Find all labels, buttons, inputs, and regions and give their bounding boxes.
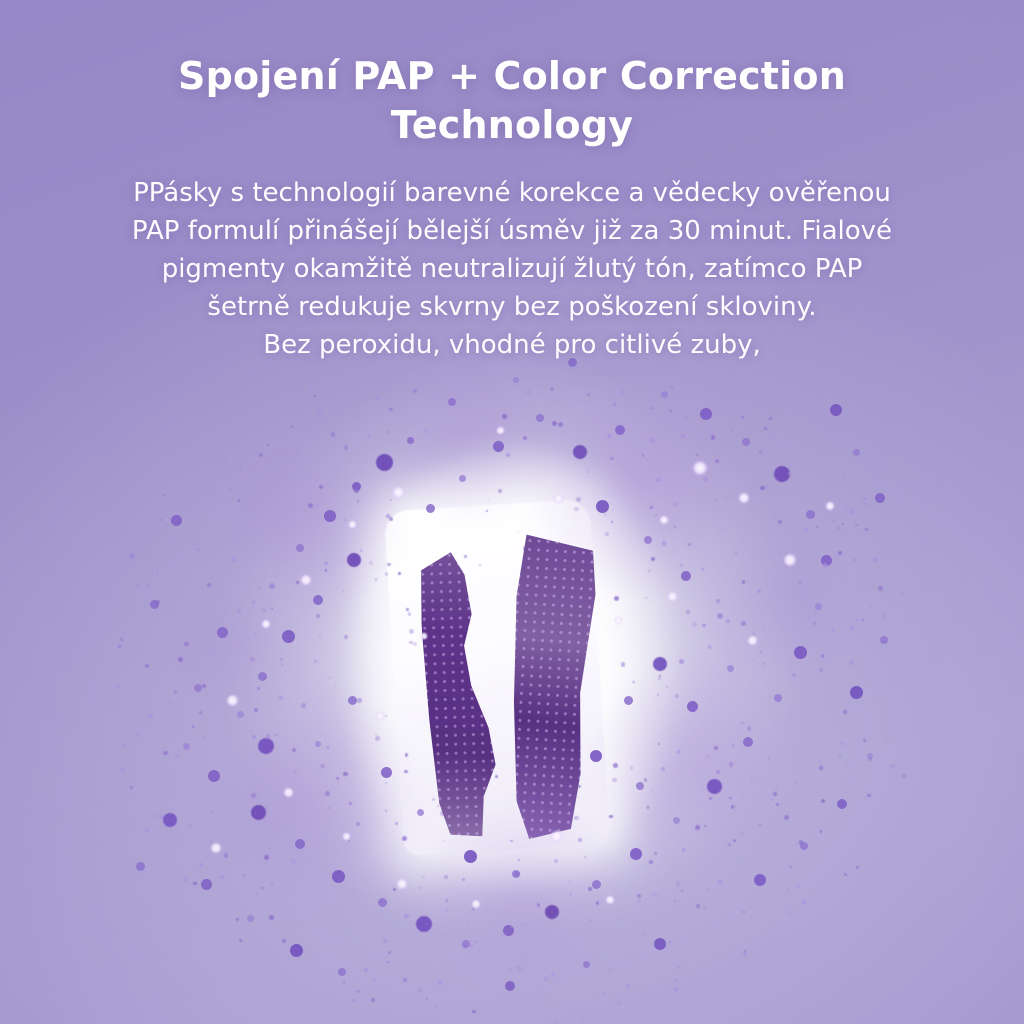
pigment-speck [154, 814, 157, 817]
pigment-speck [902, 774, 906, 778]
pigment-speck [819, 766, 823, 770]
pigment-speck [282, 939, 286, 943]
pigment-speck [850, 626, 854, 630]
pigment-speck [581, 1020, 584, 1023]
poster-canvas: Spojení PAP + Color Correction Technolog… [0, 0, 1024, 1024]
pigment-speck [117, 748, 118, 749]
pigment-speck [820, 830, 823, 833]
pigment-speck [309, 385, 314, 390]
pigment-speck [169, 867, 172, 870]
particle-dot [290, 944, 303, 957]
pigment-speck [824, 695, 826, 697]
pigment-speck [210, 840, 213, 843]
pigment-speck [242, 874, 245, 877]
particle-dot [208, 770, 220, 782]
pigment-speck [847, 765, 849, 767]
pigment-speck [886, 738, 888, 740]
particle-dot [150, 600, 159, 609]
pigment-speck [833, 520, 835, 522]
pigment-speck [651, 1008, 652, 1009]
pigment-speck [236, 918, 239, 921]
particle-dot [163, 813, 177, 827]
particle-dot [247, 915, 254, 922]
pigment-speck [790, 866, 793, 869]
pigment-speck [673, 987, 678, 992]
pigment-speck [858, 756, 860, 758]
particle-dot [194, 684, 202, 692]
pigment-speck [839, 478, 840, 479]
pigment-speck [199, 711, 202, 714]
sparkle-highlight [210, 842, 222, 854]
pigment-speck [838, 551, 842, 555]
particle-dot [853, 449, 860, 456]
pigment-speck [434, 1005, 437, 1008]
pigment-speck [870, 606, 873, 609]
particle-dot [867, 753, 873, 759]
pigment-speck [816, 526, 818, 528]
particle-dot [837, 799, 847, 809]
pigment-speck [163, 494, 165, 496]
pigment-speck [297, 407, 298, 408]
pigment-speck [838, 527, 840, 529]
pigment-speck [823, 563, 828, 568]
pigment-speck [110, 719, 111, 720]
pigment-speck [168, 780, 170, 782]
pigment-speck [163, 751, 168, 756]
pigment-speck [610, 969, 611, 970]
pigment-speck [352, 999, 355, 1002]
pigment-speck [843, 710, 847, 714]
pigment-speck [157, 573, 158, 574]
pigment-speck [120, 638, 123, 641]
pigment-speck [373, 978, 376, 981]
pigment-speck [844, 873, 847, 876]
pigment-speck [669, 941, 671, 943]
particle-dot [183, 743, 190, 750]
pigment-speck [862, 619, 864, 621]
pigment-speck [358, 380, 359, 381]
pigment-speck [864, 498, 866, 500]
pigment-speck [438, 981, 442, 985]
particle-dot [505, 981, 515, 991]
pigment-speck [849, 660, 854, 665]
pigment-speck [314, 395, 316, 397]
particle-dot [806, 510, 815, 519]
pigment-speck [831, 629, 834, 632]
pigment-speck [364, 968, 368, 972]
pigment-speck [853, 559, 855, 561]
pigment-speck [136, 732, 140, 736]
pigment-speck [862, 590, 863, 591]
pigment-speck [332, 387, 336, 391]
pigment-speck [544, 977, 548, 981]
pigment-speck [863, 739, 866, 742]
pigment-speck [271, 883, 274, 886]
pigment-speck [343, 981, 345, 983]
pigment-speck [230, 472, 234, 476]
pigment-speck [821, 799, 825, 803]
particle-dot [171, 515, 182, 526]
pigment-speck [809, 851, 810, 852]
pigment-speck [118, 645, 121, 648]
pigment-speck [626, 984, 630, 988]
pigment-speck [356, 990, 359, 993]
pigment-speck [192, 725, 195, 728]
pigment-speck [371, 998, 375, 1002]
pigment-speck [116, 685, 120, 689]
pigment-speck [839, 755, 841, 757]
page-title: Spojení PAP + Color Correction Technolog… [0, 0, 1024, 151]
pigment-speck [551, 973, 555, 977]
pigment-speck [867, 794, 871, 798]
pigment-speck [799, 840, 803, 844]
pigment-speck [882, 638, 883, 639]
pigment-speck [193, 882, 197, 886]
sparkle-highlight [825, 501, 835, 511]
pigment-speck [788, 472, 791, 475]
pigment-speck [774, 437, 776, 439]
pigment-speck [175, 754, 178, 757]
pigment-speck [220, 875, 225, 880]
pigment-speck [687, 963, 688, 964]
pigment-speck [149, 741, 150, 742]
particle-dot [742, 438, 750, 446]
pigment-speck [199, 863, 203, 867]
pigment-speck [865, 528, 868, 531]
pigment-speck [259, 453, 263, 457]
pigment-speck [203, 736, 206, 739]
pigment-speck [759, 451, 762, 454]
pigment-speck [819, 759, 821, 761]
pigment-speck [238, 499, 240, 501]
pigment-speck [827, 505, 828, 506]
pigment-speck [472, 1010, 475, 1013]
particle-dot [201, 879, 212, 890]
pigment-speck [155, 600, 160, 605]
pigment-speck [749, 939, 750, 940]
pigment-speck [197, 548, 200, 551]
pigment-speck [255, 892, 258, 895]
pigment-speck [843, 476, 845, 478]
pigment-speck [764, 427, 767, 430]
pigment-speck [850, 509, 855, 514]
particle-dot [136, 862, 145, 871]
pigment-speck [855, 524, 857, 526]
text-block: Spojení PAP + Color Correction Technolog… [0, 0, 1024, 365]
pigment-speck [741, 416, 744, 419]
pigment-speck [239, 939, 242, 942]
pigment-speck [267, 444, 269, 446]
pigment-speck [901, 591, 904, 594]
pigment-speck [224, 853, 229, 858]
particle-dot [830, 404, 842, 416]
particle-dot [338, 968, 346, 976]
particle-dot [774, 466, 790, 482]
pigment-speck [878, 586, 883, 591]
pigment-speck [617, 1001, 621, 1005]
pigment-speck [209, 493, 212, 496]
pigment-speck [178, 657, 183, 662]
pigment-speck [291, 425, 294, 428]
pigment-speck [264, 855, 269, 860]
pigment-speck [130, 786, 133, 789]
pigment-speck [440, 980, 442, 982]
pigment-speck [221, 459, 226, 464]
pigment-speck [229, 489, 230, 490]
pigment-speck [883, 614, 887, 618]
pigment-speck [180, 502, 182, 504]
particle-dot [129, 553, 135, 559]
pigment-speck [317, 409, 322, 414]
pigment-speck [873, 558, 877, 562]
pigment-speck [112, 730, 113, 731]
pigment-speck [120, 768, 125, 773]
particle-dot [875, 493, 885, 503]
particle-dot [880, 636, 888, 644]
pigment-speck [796, 884, 800, 888]
pigment-speck [261, 887, 264, 890]
pigment-speck [743, 952, 747, 956]
pigment-speck [137, 584, 140, 587]
pigment-speck [784, 815, 789, 820]
pigment-speck [183, 877, 188, 882]
pigment-speck [174, 691, 177, 694]
pigment-speck [387, 961, 389, 963]
pigment-speck [862, 502, 866, 506]
pigment-speck [802, 900, 806, 904]
particle-dot [654, 938, 666, 950]
particle-dot [800, 842, 808, 850]
pigment-speck [269, 915, 274, 920]
pigment-speck [210, 811, 213, 814]
pigment-speck [805, 528, 808, 531]
pigment-speck [855, 619, 859, 623]
pigment-speck [869, 627, 871, 629]
pigment-speck [743, 911, 745, 913]
pigment-speck [576, 1005, 577, 1006]
pigment-speck [820, 765, 823, 768]
particle-dot [754, 874, 766, 886]
particle-dot [850, 686, 863, 699]
pigment-speck [677, 966, 680, 969]
pigment-speck [165, 655, 166, 656]
pigment-speck [672, 386, 673, 387]
pigment-speck [190, 825, 192, 827]
pigment-speck [731, 431, 732, 432]
pigment-speck [240, 468, 242, 470]
pigment-speck [744, 950, 746, 952]
pigment-speck [123, 744, 126, 747]
pigment-speck [788, 888, 789, 889]
particle-dot [821, 555, 832, 566]
pigment-speck [602, 992, 605, 995]
pigment-speck [630, 966, 632, 968]
pigment-speck [868, 757, 872, 761]
pigment-speck [174, 823, 177, 826]
pigment-speck [148, 714, 152, 718]
pigment-speck [903, 672, 906, 675]
pigment-speck [318, 959, 320, 961]
pigment-speck [403, 978, 407, 982]
pigment-speck [156, 600, 157, 601]
pigment-speck [184, 642, 188, 646]
pigment-speck [176, 615, 177, 616]
pigment-speck [159, 519, 162, 522]
pigment-speck [703, 907, 706, 910]
pigment-speck [769, 417, 772, 420]
pigment-speck [145, 829, 149, 833]
pigment-speck [841, 742, 844, 745]
pigment-speck [171, 548, 172, 549]
pigment-speck [189, 648, 190, 649]
pigment-speck [165, 806, 166, 807]
pigment-speck [890, 764, 895, 769]
pigment-speck [388, 951, 391, 954]
pigment-speck [426, 998, 429, 1001]
pigment-speck [788, 911, 792, 915]
pigment-speck [145, 664, 149, 668]
pigment-speck [856, 866, 859, 869]
pigment-speck [169, 701, 172, 704]
pigment-speck [418, 989, 421, 992]
pigment-speck [214, 559, 217, 562]
pigment-speck [842, 523, 844, 525]
pigment-speck [674, 979, 678, 983]
body-paragraph: PPásky s technologií barevné korekce a v… [0, 151, 1024, 365]
pigment-speck [845, 508, 848, 511]
pigment-speck [159, 815, 164, 820]
pigment-speck [147, 584, 150, 587]
